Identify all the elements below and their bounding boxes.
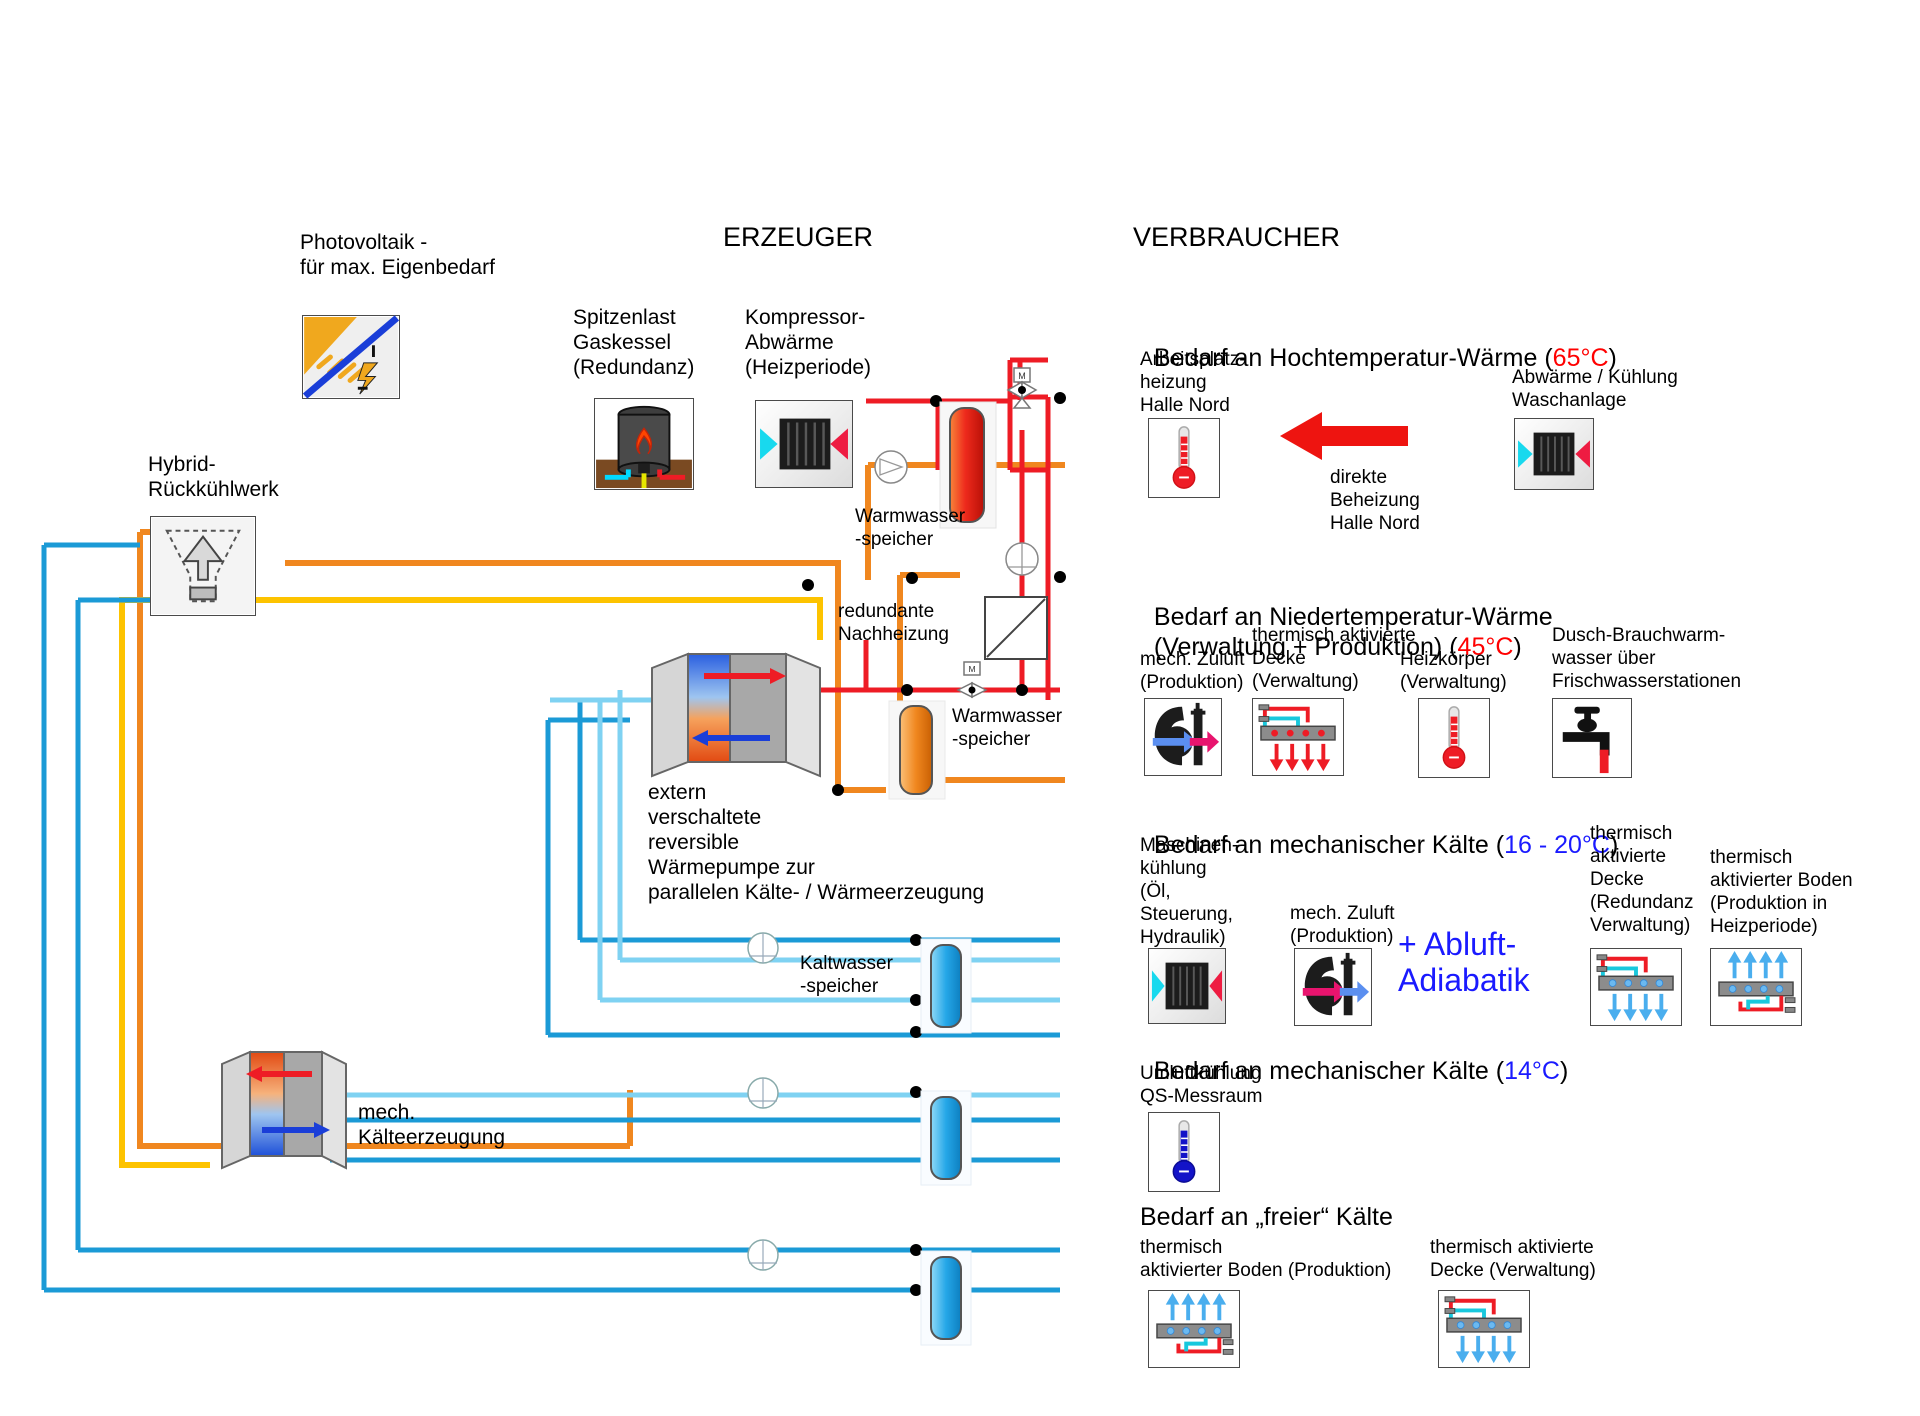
label-warmwasserspeicher-1: Warmwasser -speicher <box>855 505 965 551</box>
cold-water-tank-2 <box>920 1090 972 1186</box>
section-title-freie-kaelte: Bedarf an „freier“ Kälte <box>1140 1202 1393 1232</box>
pump-icon-5 <box>745 1237 781 1273</box>
label-arbeitsplatzheizung: Arbeitsplatz- heizung Halle Nord <box>1140 348 1246 417</box>
hybrid-cooler-icon <box>150 516 256 616</box>
tap-icon <box>1552 698 1632 778</box>
label-thermisch-aktivierte-decke-redundanz: thermisch aktivierte Decke (Redundanz Ve… <box>1590 822 1694 937</box>
label-heizkoerper-verwaltung: Heizkörper (Verwaltung) <box>1400 648 1507 694</box>
label-waermepumpe: extern verschaltete reversible Wärmepump… <box>648 780 984 905</box>
svg-text:M: M <box>968 664 975 674</box>
direct-heating-arrow-icon <box>1280 410 1408 462</box>
label-hybrid-rueckkuehlwerk: Hybrid- Rückkühlwerk <box>148 452 279 502</box>
activated-floor-heating-icon <box>1710 948 1802 1026</box>
label-kompressor-abwaerme: Kompressor- Abwärme (Heizperiode) <box>745 305 871 380</box>
label-thermisch-aktivierte-decke-verwaltung: thermisch aktivierte Decke (Verwaltung) <box>1252 624 1416 693</box>
activated-ceiling-cooling-icon-freie <box>1438 1290 1530 1368</box>
thermometer-red-icon <box>1148 418 1220 498</box>
cold-water-tank-3 <box>920 1250 972 1346</box>
mechanical-chiller-icon <box>218 1048 350 1174</box>
label-umluftkuehlung-qs: Umluftkühlung QS-Messraum <box>1140 1062 1262 1108</box>
pump-icon-4 <box>745 1075 781 1111</box>
gas-boiler-icon <box>594 398 694 490</box>
cold-water-tank-1 <box>920 938 972 1034</box>
activated-ceiling-heating-icon <box>1252 698 1344 776</box>
label-thermisch-aktivierter-boden-produktion: thermisch aktivierter Boden (Produktion … <box>1710 846 1853 938</box>
motor-valve-icon-top: M <box>1000 368 1044 412</box>
heat-exchanger-icon-waschanlage <box>1514 418 1594 490</box>
activated-ceiling-cooling-icon <box>1590 948 1682 1026</box>
label-mech-kaelteerzeugung: mech. Kälteerzeugung <box>358 1100 505 1150</box>
activated-floor-cooling-icon <box>1148 1290 1240 1368</box>
label-redundante-nachheizung: redundante Nachheizung <box>838 600 949 646</box>
heat-exchanger-icon-maschinen <box>1148 948 1226 1024</box>
pump-icon-3 <box>745 930 781 966</box>
label-abwaerme-waschanlage: Abwärme / Kühlung Waschanlage <box>1512 366 1678 412</box>
plate-heat-exchanger-icon <box>973 595 1059 661</box>
fan-supply-air-icon <box>1144 698 1222 776</box>
heat-pump-icon <box>644 650 824 780</box>
fan-cooling-air-icon <box>1294 948 1372 1026</box>
thermometer-blue-icon <box>1148 1112 1220 1192</box>
svg-text:M: M <box>1018 371 1026 381</box>
label-mech-zuluft-produktion: mech. Zuluft (Produktion) <box>1140 648 1245 694</box>
annotation-abluft-adiabatik: + Abluft- Adiabatik <box>1398 926 1530 998</box>
label-dusch-brauchwarmwasser: Dusch-Brauchwarm- wasser über Frischwass… <box>1552 624 1741 693</box>
label-spitzenlast-gaskessel: Spitzenlast Gaskessel (Redundanz) <box>573 305 694 380</box>
thermometer-red-icon-heizkoerper <box>1418 698 1490 778</box>
pump-icon-2 <box>1003 540 1041 578</box>
heat-exchanger-icon <box>755 400 853 488</box>
label-warmwasserspeicher-2: Warmwasser -speicher <box>952 705 1062 751</box>
pump-icon-1 <box>872 448 910 486</box>
motor-valve-icon-bottom: M <box>950 662 994 706</box>
photovoltaik-icon <box>302 315 400 399</box>
label-direkte-beheizung: direkte Beheizung Halle Nord <box>1330 466 1420 535</box>
nt-title-line2b: ) <box>1513 633 1521 661</box>
label-maschinenkuehlung: Maschinen- kühlung (Öl, Steuerung, Hydra… <box>1140 834 1238 949</box>
label-thermisch-aktivierter-boden-freie: thermisch aktivierter Boden (Produktion) <box>1140 1236 1391 1282</box>
label-photovoltaik: Photovoltaik - für max. Eigenbedarf <box>300 230 495 280</box>
label-kaltwasserspeicher: Kaltwasser -speicher <box>800 952 893 998</box>
mk2-title-end: ) <box>1560 1057 1568 1085</box>
mk2-title-temp: 14°C <box>1504 1057 1560 1085</box>
label-mech-zuluft-produktion-kaelte: mech. Zuluft (Produktion) <box>1290 902 1395 948</box>
label-thermisch-aktivierte-decke-freie: thermisch aktivierte Decke (Verwaltung) <box>1430 1236 1596 1282</box>
